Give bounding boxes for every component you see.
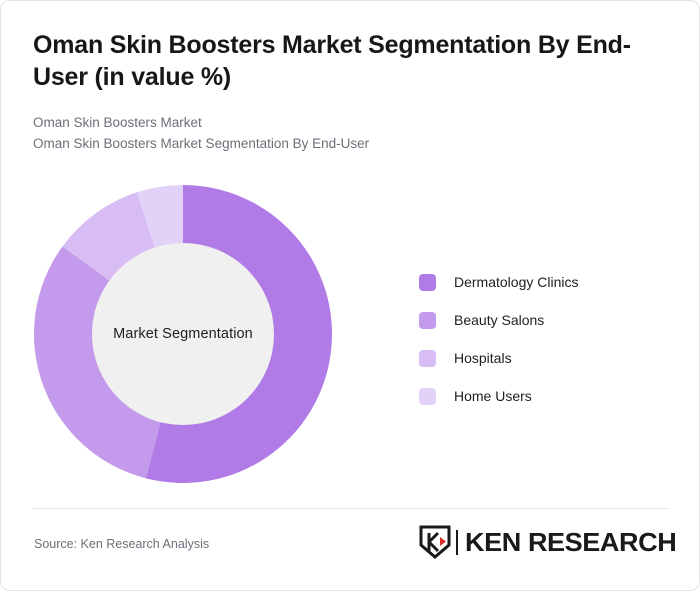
subtitle-market: Oman Skin Boosters Market — [33, 113, 653, 134]
ken-research-shield-icon — [419, 525, 451, 559]
legend-item-label: Dermatology Clinics — [454, 274, 578, 290]
legend-swatch-icon — [419, 350, 436, 367]
legend-item[interactable]: Beauty Salons — [419, 301, 578, 339]
chart-header: Oman Skin Boosters Market Segmentation B… — [33, 29, 653, 154]
legend-swatch-icon — [419, 274, 436, 291]
brand-divider — [456, 530, 458, 555]
brand-logo: KEN RESEARCH — [419, 525, 668, 559]
legend-item[interactable]: Dermatology Clinics — [419, 263, 578, 301]
legend-item[interactable]: Hospitals — [419, 339, 578, 377]
page-title: Oman Skin Boosters Market Segmentation B… — [33, 29, 653, 93]
legend-item-label: Beauty Salons — [454, 312, 544, 328]
donut-svg — [33, 184, 333, 484]
brand-name: KEN RESEARCH — [465, 527, 676, 558]
source-note: Source: Ken Research Analysis — [34, 537, 209, 551]
footer-divider — [33, 508, 669, 509]
donut-hole — [92, 243, 274, 425]
legend-item-label: Hospitals — [454, 350, 512, 366]
legend-swatch-icon — [419, 312, 436, 329]
legend-item[interactable]: Home Users — [419, 377, 578, 415]
legend-swatch-icon — [419, 388, 436, 405]
subtitle-segmentation: Oman Skin Boosters Market Segmentation B… — [33, 134, 653, 155]
plot-area: Market Segmentation Dermatology ClinicsB… — [1, 169, 700, 499]
chart-card: Oman Skin Boosters Market Segmentation B… — [0, 0, 700, 591]
chart-legend: Dermatology ClinicsBeauty SalonsHospital… — [419, 263, 578, 415]
breadcrumb: Oman Skin Boosters Market Oman Skin Boos… — [33, 113, 653, 154]
donut-chart: Market Segmentation — [33, 184, 333, 484]
legend-item-label: Home Users — [454, 388, 532, 404]
